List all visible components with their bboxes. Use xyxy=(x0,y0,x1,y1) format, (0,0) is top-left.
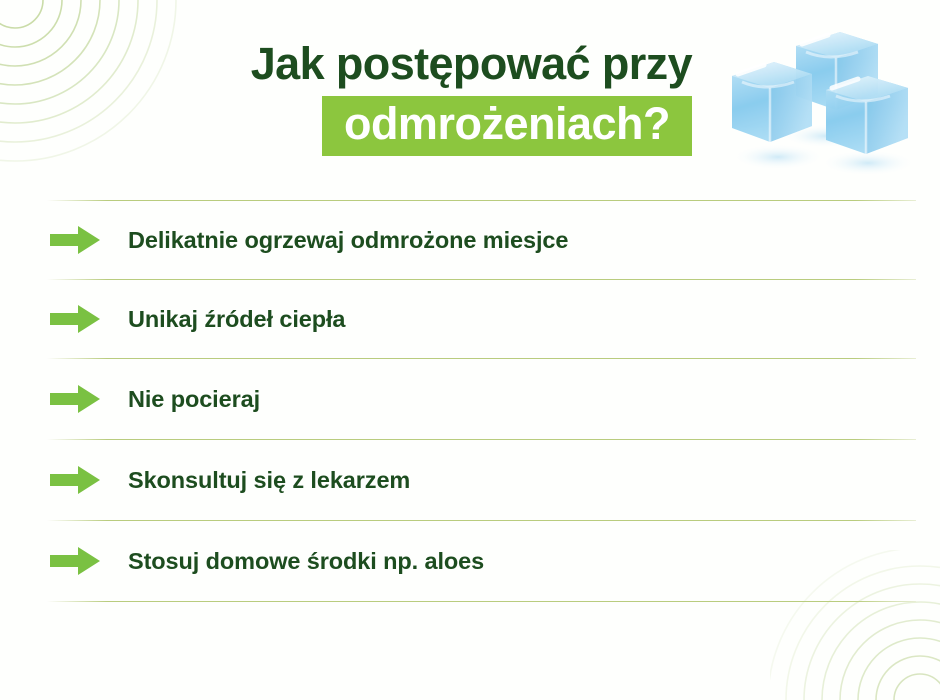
list-item: Unikaj źródeł ciepła xyxy=(0,280,940,358)
arrow-right-icon xyxy=(50,465,100,495)
list-item-label: Unikaj źródeł ciepła xyxy=(128,306,345,333)
list-item: Skonsultuj się z lekarzem xyxy=(0,440,940,520)
tips-list: Delikatnie ogrzewaj odmrożone miesjce Un… xyxy=(0,200,940,602)
list-item-label: Skonsultuj się z lekarzem xyxy=(128,467,410,494)
list-item-label: Stosuj domowe środki np. aloes xyxy=(128,548,484,575)
title-line-secondary: odmrożeniach? xyxy=(322,96,692,156)
arrow-right-icon xyxy=(50,546,100,576)
list-item-label: Delikatnie ogrzewaj odmrożone miesjce xyxy=(128,227,568,254)
ice-cubes-icon xyxy=(718,18,928,183)
poster-header: Jak postępować przy odmrożeniach? xyxy=(0,0,940,190)
arrow-right-icon xyxy=(50,384,100,414)
infographic-poster: Jak postępować przy odmrożeniach? xyxy=(0,0,940,700)
arrow-right-icon xyxy=(50,304,100,334)
list-item: Stosuj domowe środki np. aloes xyxy=(0,521,940,601)
page-title: Jak postępować przy odmrożeniach? xyxy=(0,36,710,156)
arrow-right-icon xyxy=(50,225,100,255)
title-line-primary: Jak postępować przy xyxy=(0,36,710,92)
title-line-secondary-wrap: odmrożeniach? xyxy=(0,96,710,156)
divider xyxy=(46,601,916,602)
list-item-label: Nie pocieraj xyxy=(128,386,260,413)
list-item: Nie pocieraj xyxy=(0,359,940,439)
list-item: Delikatnie ogrzewaj odmrożone miesjce xyxy=(0,201,940,279)
